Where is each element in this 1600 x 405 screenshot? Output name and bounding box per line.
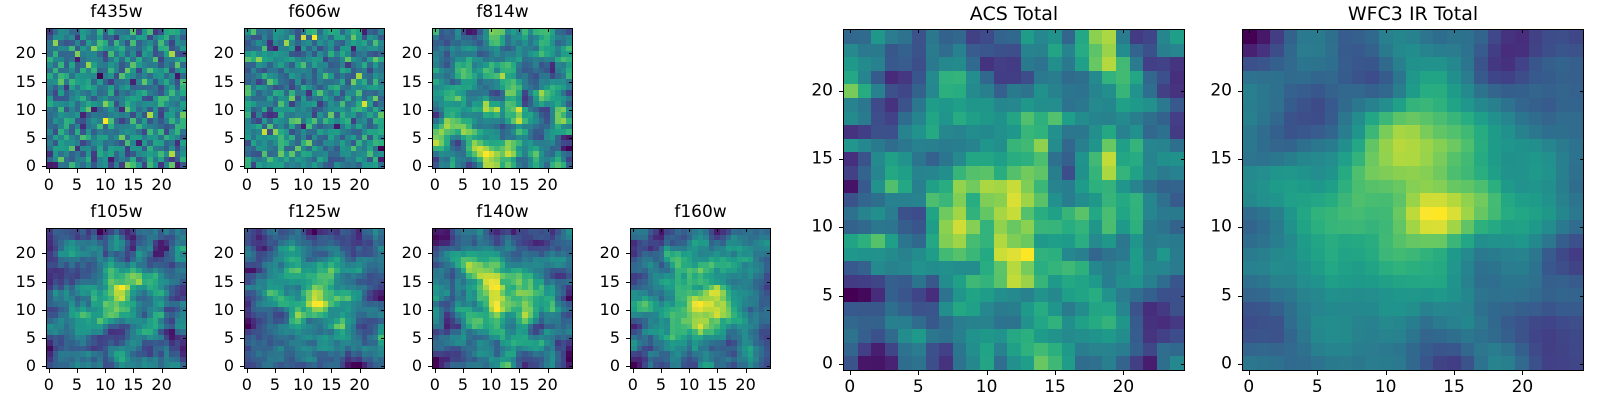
x-tick-label-f814w-3: 15 — [509, 177, 529, 193]
x-tick-label-f435w-0: 0 — [44, 177, 54, 193]
y-tick-f814w-0 — [428, 166, 432, 167]
x-tick-f140w-2 — [491, 369, 492, 373]
x-tick-inner-f435w-0 — [49, 28, 50, 32]
panel-title-acs-total: ACS Total — [843, 5, 1185, 24]
y-tick-label-f606w-2: 10 — [184, 102, 234, 118]
y-tick-f140w-3 — [428, 282, 432, 283]
axes-f606w — [244, 28, 385, 169]
y-tick-inner-f160w-1 — [767, 338, 771, 339]
x-tick-label-f160w-3: 15 — [707, 377, 727, 393]
y-tick-f105w-4 — [42, 253, 46, 254]
x-tick-inner-f105w-0 — [49, 228, 50, 232]
panel-title-f435w: f435w — [46, 4, 187, 21]
axes-f125w — [244, 228, 385, 369]
y-tick-label-f140w-2: 10 — [372, 302, 422, 318]
x-tick-wfc3-ir-total-2 — [1386, 371, 1387, 375]
x-tick-f125w-0 — [247, 369, 248, 373]
x-tick-label-f160w-4: 20 — [735, 377, 755, 393]
x-tick-acs-total-3 — [1055, 371, 1056, 375]
x-tick-wfc3-ir-total-0 — [1249, 371, 1250, 375]
x-tick-f105w-2 — [105, 369, 106, 373]
y-tick-label-f140w-3: 15 — [372, 274, 422, 290]
panel-f435w: f435w0510152005101520 — [0, 2, 197, 203]
heatmap-wfc3-ir-total — [1243, 30, 1583, 370]
x-tick-f814w-4 — [548, 169, 549, 173]
x-tick-inner-f140w-2 — [491, 228, 492, 232]
x-tick-inner-f435w-2 — [105, 28, 106, 32]
x-tick-f140w-0 — [435, 369, 436, 373]
x-tick-f606w-0 — [247, 169, 248, 173]
x-tick-inner-wfc3-ir-total-2 — [1386, 29, 1387, 33]
x-tick-acs-total-2 — [987, 371, 988, 375]
y-tick-label-wfc3-ir-total-0: 0 — [1182, 356, 1232, 373]
heatmap-f160w — [631, 229, 770, 368]
y-tick-inner-wfc3-ir-total-1 — [1580, 296, 1584, 297]
x-tick-label-f814w-2: 10 — [481, 177, 501, 193]
y-tick-acs-total-1 — [839, 296, 843, 297]
x-tick-f814w-0 — [435, 169, 436, 173]
heatmap-f435w — [47, 29, 186, 168]
x-tick-label-f606w-0: 0 — [242, 177, 252, 193]
x-tick-label-f160w-1: 5 — [656, 377, 666, 393]
panel-title-wfc3-ir-total: WFC3 IR Total — [1242, 5, 1584, 24]
y-tick-label-acs-total-1: 5 — [783, 287, 833, 304]
y-tick-f606w-0 — [240, 166, 244, 167]
x-tick-f105w-1 — [77, 369, 78, 373]
x-tick-inner-acs-total-3 — [1055, 29, 1056, 33]
x-tick-label-f140w-3: 15 — [509, 377, 529, 393]
x-tick-f140w-1 — [463, 369, 464, 373]
x-tick-f125w-1 — [275, 369, 276, 373]
axes-f105w — [46, 228, 187, 369]
x-tick-inner-wfc3-ir-total-3 — [1454, 29, 1455, 33]
y-tick-inner-f160w-0 — [767, 366, 771, 367]
x-tick-label-wfc3-ir-total-2: 10 — [1375, 379, 1397, 396]
x-tick-inner-f814w-2 — [491, 28, 492, 32]
y-tick-label-f140w-4: 20 — [372, 245, 422, 261]
x-tick-label-f105w-2: 10 — [95, 377, 115, 393]
y-tick-label-wfc3-ir-total-4: 20 — [1182, 82, 1232, 99]
x-tick-inner-f606w-1 — [275, 28, 276, 32]
y-tick-f105w-0 — [42, 366, 46, 367]
x-tick-inner-f160w-1 — [661, 228, 662, 232]
x-tick-label-f140w-0: 0 — [430, 377, 440, 393]
x-tick-inner-f105w-4 — [162, 228, 163, 232]
y-tick-label-f606w-1: 5 — [184, 130, 234, 146]
x-tick-label-f160w-2: 10 — [679, 377, 699, 393]
y-tick-label-f125w-2: 10 — [184, 302, 234, 318]
y-tick-f125w-1 — [240, 338, 244, 339]
y-tick-label-f435w-1: 5 — [0, 130, 36, 146]
y-tick-acs-total-3 — [839, 159, 843, 160]
x-tick-label-wfc3-ir-total-3: 15 — [1443, 379, 1465, 396]
x-tick-inner-f160w-3 — [717, 228, 718, 232]
x-tick-label-acs-total-4: 20 — [1113, 379, 1135, 396]
y-tick-label-f140w-0: 0 — [372, 358, 422, 374]
y-tick-f125w-2 — [240, 310, 244, 311]
x-tick-label-f814w-4: 20 — [537, 177, 557, 193]
y-tick-inner-f160w-4 — [767, 253, 771, 254]
y-tick-f125w-3 — [240, 282, 244, 283]
y-tick-inner-wfc3-ir-total-4 — [1580, 91, 1584, 92]
y-tick-label-f140w-1: 5 — [372, 330, 422, 346]
x-tick-f606w-4 — [360, 169, 361, 173]
y-tick-f435w-2 — [42, 110, 46, 111]
y-tick-f606w-4 — [240, 53, 244, 54]
x-tick-inner-f435w-1 — [77, 28, 78, 32]
x-tick-f125w-3 — [331, 369, 332, 373]
x-tick-inner-f160w-4 — [746, 228, 747, 232]
panel-title-f105w: f105w — [46, 204, 187, 221]
axes-f160w — [630, 228, 771, 369]
y-tick-wfc3-ir-total-1 — [1238, 296, 1242, 297]
y-tick-label-f814w-2: 10 — [372, 102, 422, 118]
y-tick-f606w-1 — [240, 138, 244, 139]
y-tick-label-f606w-0: 0 — [184, 158, 234, 174]
x-tick-acs-total-0 — [850, 371, 851, 375]
x-tick-f435w-1 — [77, 169, 78, 173]
y-tick-label-f160w-0: 0 — [570, 358, 620, 374]
heatmap-f105w — [47, 229, 186, 368]
y-tick-label-f435w-2: 10 — [0, 102, 36, 118]
x-tick-f814w-2 — [491, 169, 492, 173]
x-tick-inner-f160w-2 — [689, 228, 690, 232]
y-tick-label-f125w-3: 15 — [184, 274, 234, 290]
x-tick-label-f814w-1: 5 — [458, 177, 468, 193]
x-tick-label-f125w-4: 20 — [349, 377, 369, 393]
panel-f814w: f814w0510152005101520 — [372, 2, 583, 203]
heatmap-f814w — [433, 29, 572, 168]
x-tick-f160w-3 — [717, 369, 718, 373]
x-tick-label-f606w-3: 15 — [321, 177, 341, 193]
axes-f140w — [432, 228, 573, 369]
x-tick-label-f105w-4: 20 — [151, 377, 171, 393]
y-tick-f140w-4 — [428, 253, 432, 254]
x-tick-label-f125w-0: 0 — [242, 377, 252, 393]
y-tick-inner-f160w-2 — [767, 310, 771, 311]
y-tick-f160w-1 — [626, 338, 630, 339]
y-tick-label-f160w-3: 15 — [570, 274, 620, 290]
y-tick-acs-total-0 — [839, 364, 843, 365]
y-tick-label-f435w-0: 0 — [0, 158, 36, 174]
x-tick-inner-f125w-3 — [331, 228, 332, 232]
y-tick-label-f435w-3: 15 — [0, 74, 36, 90]
x-tick-f606w-3 — [331, 169, 332, 173]
x-tick-label-acs-total-3: 15 — [1044, 379, 1066, 396]
heatmap-f125w — [245, 229, 384, 368]
x-tick-label-f160w-0: 0 — [628, 377, 638, 393]
x-tick-label-f125w-1: 5 — [270, 377, 280, 393]
x-tick-f606w-1 — [275, 169, 276, 173]
y-tick-wfc3-ir-total-4 — [1238, 91, 1242, 92]
x-tick-label-f435w-3: 15 — [123, 177, 143, 193]
x-tick-inner-f105w-3 — [133, 228, 134, 232]
x-tick-inner-f140w-1 — [463, 228, 464, 232]
x-tick-f105w-0 — [49, 369, 50, 373]
x-tick-label-f125w-2: 10 — [293, 377, 313, 393]
heatmap-f140w — [433, 229, 572, 368]
x-tick-label-f435w-2: 10 — [95, 177, 115, 193]
x-tick-f160w-2 — [689, 369, 690, 373]
x-tick-inner-f814w-0 — [435, 28, 436, 32]
x-tick-label-f105w-3: 15 — [123, 377, 143, 393]
x-tick-f105w-3 — [133, 369, 134, 373]
panel-title-f606w: f606w — [244, 4, 385, 21]
y-tick-f140w-0 — [428, 366, 432, 367]
y-tick-acs-total-4 — [839, 91, 843, 92]
x-tick-label-wfc3-ir-total-4: 20 — [1512, 379, 1534, 396]
y-tick-label-f160w-2: 10 — [570, 302, 620, 318]
x-tick-f814w-1 — [463, 169, 464, 173]
x-tick-inner-f435w-4 — [162, 28, 163, 32]
y-tick-f435w-0 — [42, 166, 46, 167]
y-tick-f140w-1 — [428, 338, 432, 339]
y-tick-f140w-2 — [428, 310, 432, 311]
x-tick-f606w-2 — [303, 169, 304, 173]
x-tick-f435w-0 — [49, 169, 50, 173]
axes-f435w — [46, 28, 187, 169]
x-tick-inner-f160w-0 — [633, 228, 634, 232]
y-tick-label-wfc3-ir-total-1: 5 — [1182, 287, 1232, 304]
y-tick-label-f105w-2: 10 — [0, 302, 36, 318]
x-tick-inner-f814w-3 — [519, 28, 520, 32]
x-tick-wfc3-ir-total-1 — [1317, 371, 1318, 375]
x-tick-f125w-4 — [360, 369, 361, 373]
x-tick-acs-total-4 — [1123, 371, 1124, 375]
panel-title-f814w: f814w — [432, 4, 573, 21]
x-tick-inner-f105w-1 — [77, 228, 78, 232]
x-tick-acs-total-1 — [918, 371, 919, 375]
x-tick-f160w-1 — [661, 369, 662, 373]
heatmap-f606w — [245, 29, 384, 168]
y-tick-f606w-2 — [240, 110, 244, 111]
y-tick-f814w-3 — [428, 82, 432, 83]
y-tick-f160w-4 — [626, 253, 630, 254]
x-tick-inner-f140w-3 — [519, 228, 520, 232]
x-tick-inner-f140w-4 — [548, 228, 549, 232]
x-tick-label-f435w-4: 20 — [151, 177, 171, 193]
x-tick-inner-f125w-1 — [275, 228, 276, 232]
y-tick-label-f814w-3: 15 — [372, 74, 422, 90]
x-tick-label-f435w-1: 5 — [72, 177, 82, 193]
y-tick-inner-wfc3-ir-total-3 — [1580, 159, 1584, 160]
y-tick-label-f814w-4: 20 — [372, 45, 422, 61]
y-tick-f105w-2 — [42, 310, 46, 311]
x-tick-label-f606w-2: 10 — [293, 177, 313, 193]
heatmap-acs-total — [844, 30, 1184, 370]
y-tick-inner-f814w-2 — [569, 110, 573, 111]
x-tick-f105w-4 — [162, 369, 163, 373]
x-tick-inner-f606w-3 — [331, 28, 332, 32]
x-tick-inner-acs-total-0 — [850, 29, 851, 33]
x-tick-inner-f125w-4 — [360, 228, 361, 232]
axes-f814w — [432, 28, 573, 169]
y-tick-label-f125w-1: 5 — [184, 330, 234, 346]
x-tick-f140w-3 — [519, 369, 520, 373]
y-tick-f125w-4 — [240, 253, 244, 254]
x-tick-inner-f814w-1 — [463, 28, 464, 32]
y-tick-f814w-2 — [428, 110, 432, 111]
x-tick-inner-acs-total-4 — [1123, 29, 1124, 33]
y-tick-inner-wfc3-ir-total-2 — [1580, 227, 1584, 228]
x-tick-f814w-3 — [519, 169, 520, 173]
x-tick-inner-wfc3-ir-total-0 — [1249, 29, 1250, 33]
x-tick-label-f140w-2: 10 — [481, 377, 501, 393]
x-tick-f160w-4 — [746, 369, 747, 373]
y-tick-label-wfc3-ir-total-2: 10 — [1182, 219, 1232, 236]
y-tick-inner-f814w-0 — [569, 166, 573, 167]
y-tick-inner-f160w-3 — [767, 282, 771, 283]
y-tick-wfc3-ir-total-3 — [1238, 159, 1242, 160]
y-tick-label-f160w-1: 5 — [570, 330, 620, 346]
y-tick-label-f606w-3: 15 — [184, 74, 234, 90]
x-tick-label-wfc3-ir-total-1: 5 — [1312, 379, 1323, 396]
y-tick-label-acs-total-4: 20 — [783, 82, 833, 99]
x-tick-label-f140w-1: 5 — [458, 377, 468, 393]
panel-f160w: f160w0510152005101520 — [570, 202, 781, 403]
x-tick-label-acs-total-1: 5 — [913, 379, 924, 396]
panel-title-f140w: f140w — [432, 204, 573, 221]
x-tick-inner-wfc3-ir-total-4 — [1522, 29, 1523, 33]
y-tick-label-wfc3-ir-total-3: 15 — [1182, 150, 1232, 167]
y-tick-inner-f814w-1 — [569, 138, 573, 139]
y-tick-f435w-4 — [42, 53, 46, 54]
x-tick-f435w-2 — [105, 169, 106, 173]
x-tick-label-f814w-0: 0 — [430, 177, 440, 193]
y-tick-label-f105w-3: 15 — [0, 274, 36, 290]
y-tick-f105w-1 — [42, 338, 46, 339]
y-tick-f814w-1 — [428, 138, 432, 139]
y-tick-f160w-0 — [626, 366, 630, 367]
y-tick-label-acs-total-0: 0 — [783, 356, 833, 373]
panel-f140w: f140w0510152005101520 — [372, 202, 583, 403]
y-tick-wfc3-ir-total-2 — [1238, 227, 1242, 228]
x-tick-label-f606w-4: 20 — [349, 177, 369, 193]
x-tick-inner-f814w-4 — [548, 28, 549, 32]
x-tick-label-f140w-4: 20 — [537, 377, 557, 393]
y-tick-f105w-3 — [42, 282, 46, 283]
y-tick-acs-total-2 — [839, 227, 843, 228]
y-tick-f125w-0 — [240, 366, 244, 367]
x-tick-label-f125w-3: 15 — [321, 377, 341, 393]
x-tick-inner-wfc3-ir-total-1 — [1317, 29, 1318, 33]
x-tick-wfc3-ir-total-3 — [1454, 371, 1455, 375]
panel-f606w: f606w0510152005101520 — [184, 2, 395, 203]
x-tick-inner-acs-total-2 — [987, 29, 988, 33]
y-tick-label-f160w-4: 20 — [570, 245, 620, 261]
y-tick-label-f105w-0: 0 — [0, 358, 36, 374]
y-tick-f160w-3 — [626, 282, 630, 283]
x-tick-f160w-0 — [633, 369, 634, 373]
y-tick-inner-wfc3-ir-total-0 — [1580, 364, 1584, 365]
x-tick-label-f105w-0: 0 — [44, 377, 54, 393]
x-tick-f140w-4 — [548, 369, 549, 373]
panel-f125w: f125w0510152005101520 — [184, 202, 395, 403]
y-tick-f435w-1 — [42, 138, 46, 139]
y-tick-label-f814w-1: 5 — [372, 130, 422, 146]
x-tick-label-wfc3-ir-total-0: 0 — [1243, 379, 1254, 396]
x-tick-f435w-3 — [133, 169, 134, 173]
y-tick-wfc3-ir-total-0 — [1238, 364, 1242, 365]
x-tick-inner-f606w-4 — [360, 28, 361, 32]
y-tick-label-acs-total-3: 15 — [783, 150, 833, 167]
x-tick-wfc3-ir-total-4 — [1522, 371, 1523, 375]
x-tick-inner-f125w-2 — [303, 228, 304, 232]
x-tick-inner-f105w-2 — [105, 228, 106, 232]
y-tick-f435w-3 — [42, 82, 46, 83]
x-tick-label-f606w-1: 5 — [270, 177, 280, 193]
x-tick-inner-f606w-2 — [303, 28, 304, 32]
y-tick-label-acs-total-2: 10 — [783, 219, 833, 236]
panel-acs-total: ACS Total0510152005101520 — [783, 3, 1195, 405]
y-tick-inner-f814w-3 — [569, 82, 573, 83]
x-tick-inner-f435w-3 — [133, 28, 134, 32]
panel-title-f125w: f125w — [244, 204, 385, 221]
axes-acs-total — [843, 29, 1185, 371]
x-tick-label-acs-total-2: 10 — [976, 379, 998, 396]
x-tick-inner-f140w-0 — [435, 228, 436, 232]
panel-wfc3-ir-total: WFC3 IR Total0510152005101520 — [1182, 3, 1594, 405]
y-tick-inner-f814w-4 — [569, 53, 573, 54]
x-tick-label-f105w-1: 5 — [72, 377, 82, 393]
panel-f105w: f105w0510152005101520 — [0, 202, 197, 403]
y-tick-label-f125w-0: 0 — [184, 358, 234, 374]
panel-title-f160w: f160w — [630, 204, 771, 221]
x-tick-inner-f125w-0 — [247, 228, 248, 232]
y-tick-label-f606w-4: 20 — [184, 45, 234, 61]
y-tick-f160w-2 — [626, 310, 630, 311]
x-tick-f435w-4 — [162, 169, 163, 173]
y-tick-label-f435w-4: 20 — [0, 45, 36, 61]
y-tick-label-f105w-4: 20 — [0, 245, 36, 261]
y-tick-f814w-4 — [428, 53, 432, 54]
y-tick-label-f814w-0: 0 — [372, 158, 422, 174]
y-tick-label-f125w-4: 20 — [184, 245, 234, 261]
y-tick-f606w-3 — [240, 82, 244, 83]
y-tick-label-f105w-1: 5 — [0, 330, 36, 346]
x-tick-inner-f606w-0 — [247, 28, 248, 32]
axes-wfc3-ir-total — [1242, 29, 1584, 371]
figure-canvas: f435w0510152005101520f606w05101520051015… — [0, 0, 1600, 400]
x-tick-label-acs-total-0: 0 — [844, 379, 855, 396]
x-tick-inner-acs-total-1 — [918, 29, 919, 33]
x-tick-f125w-2 — [303, 369, 304, 373]
